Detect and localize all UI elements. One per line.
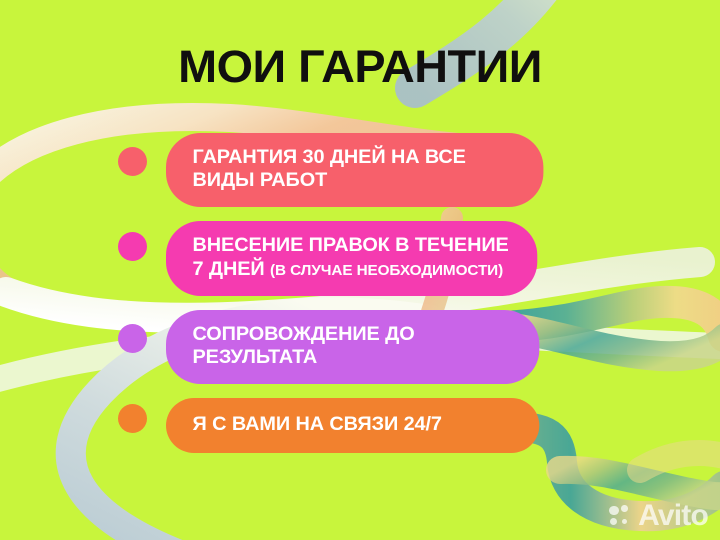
- bullet-dot-icon: [118, 147, 147, 176]
- guarantee-pill: ГАРАНТИЯ 30 ДНЕЙ НА ВСЕ ВИДЫ РАБОТ: [166, 133, 543, 207]
- guarantee-pill: СОПРОВОЖДЕНИЕ ДО РЕЗУЛЬТАТА: [166, 310, 539, 384]
- bullet-dot-icon: [118, 404, 147, 433]
- guarantee-text: Я С ВАМИ НА СВЯЗИ 24/7: [193, 413, 442, 435]
- list-item: ВНЕСЕНИЕ ПРАВОК В ТЕЧЕНИЕ 7 ДНЕЙ (В СЛУЧ…: [0, 221, 720, 295]
- guarantee-pill: Я С ВАМИ НА СВЯЗИ 24/7: [166, 398, 539, 453]
- avito-dots-icon: [609, 505, 633, 527]
- guarantee-text: СОПРОВОЖДЕНИЕ ДО РЕЗУЛЬТАТА: [193, 323, 415, 368]
- guarantee-pill: ВНЕСЕНИЕ ПРАВОК В ТЕЧЕНИЕ 7 ДНЕЙ (В СЛУЧ…: [166, 221, 537, 295]
- page-title: МОИ ГАРАНТИИ: [0, 44, 720, 89]
- guarantee-note: (В СЛУЧАЕ НЕОБХОДИМОСТИ): [270, 262, 503, 279]
- guarantee-text: ГАРАНТИЯ 30 ДНЕЙ НА ВСЕ ВИДЫ РАБОТ: [193, 146, 466, 191]
- list-item: Я С ВАМИ НА СВЯЗИ 24/7: [0, 398, 720, 453]
- guarantees-poster: МОИ ГАРАНТИИ ГАРАНТИЯ 30 ДНЕЙ НА ВСЕ ВИД…: [0, 0, 720, 540]
- bullet-dot-icon: [118, 232, 147, 261]
- list-item: СОПРОВОЖДЕНИЕ ДО РЕЗУЛЬТАТА: [0, 310, 720, 384]
- guarantees-list: ГАРАНТИЯ 30 ДНЕЙ НА ВСЕ ВИДЫ РАБОТ ВНЕСЕ…: [0, 133, 720, 467]
- avito-wordmark: Avito: [638, 501, 708, 531]
- avito-watermark: Avito: [609, 501, 708, 531]
- list-item: ГАРАНТИЯ 30 ДНЕЙ НА ВСЕ ВИДЫ РАБОТ: [0, 133, 720, 207]
- bullet-dot-icon: [118, 324, 147, 353]
